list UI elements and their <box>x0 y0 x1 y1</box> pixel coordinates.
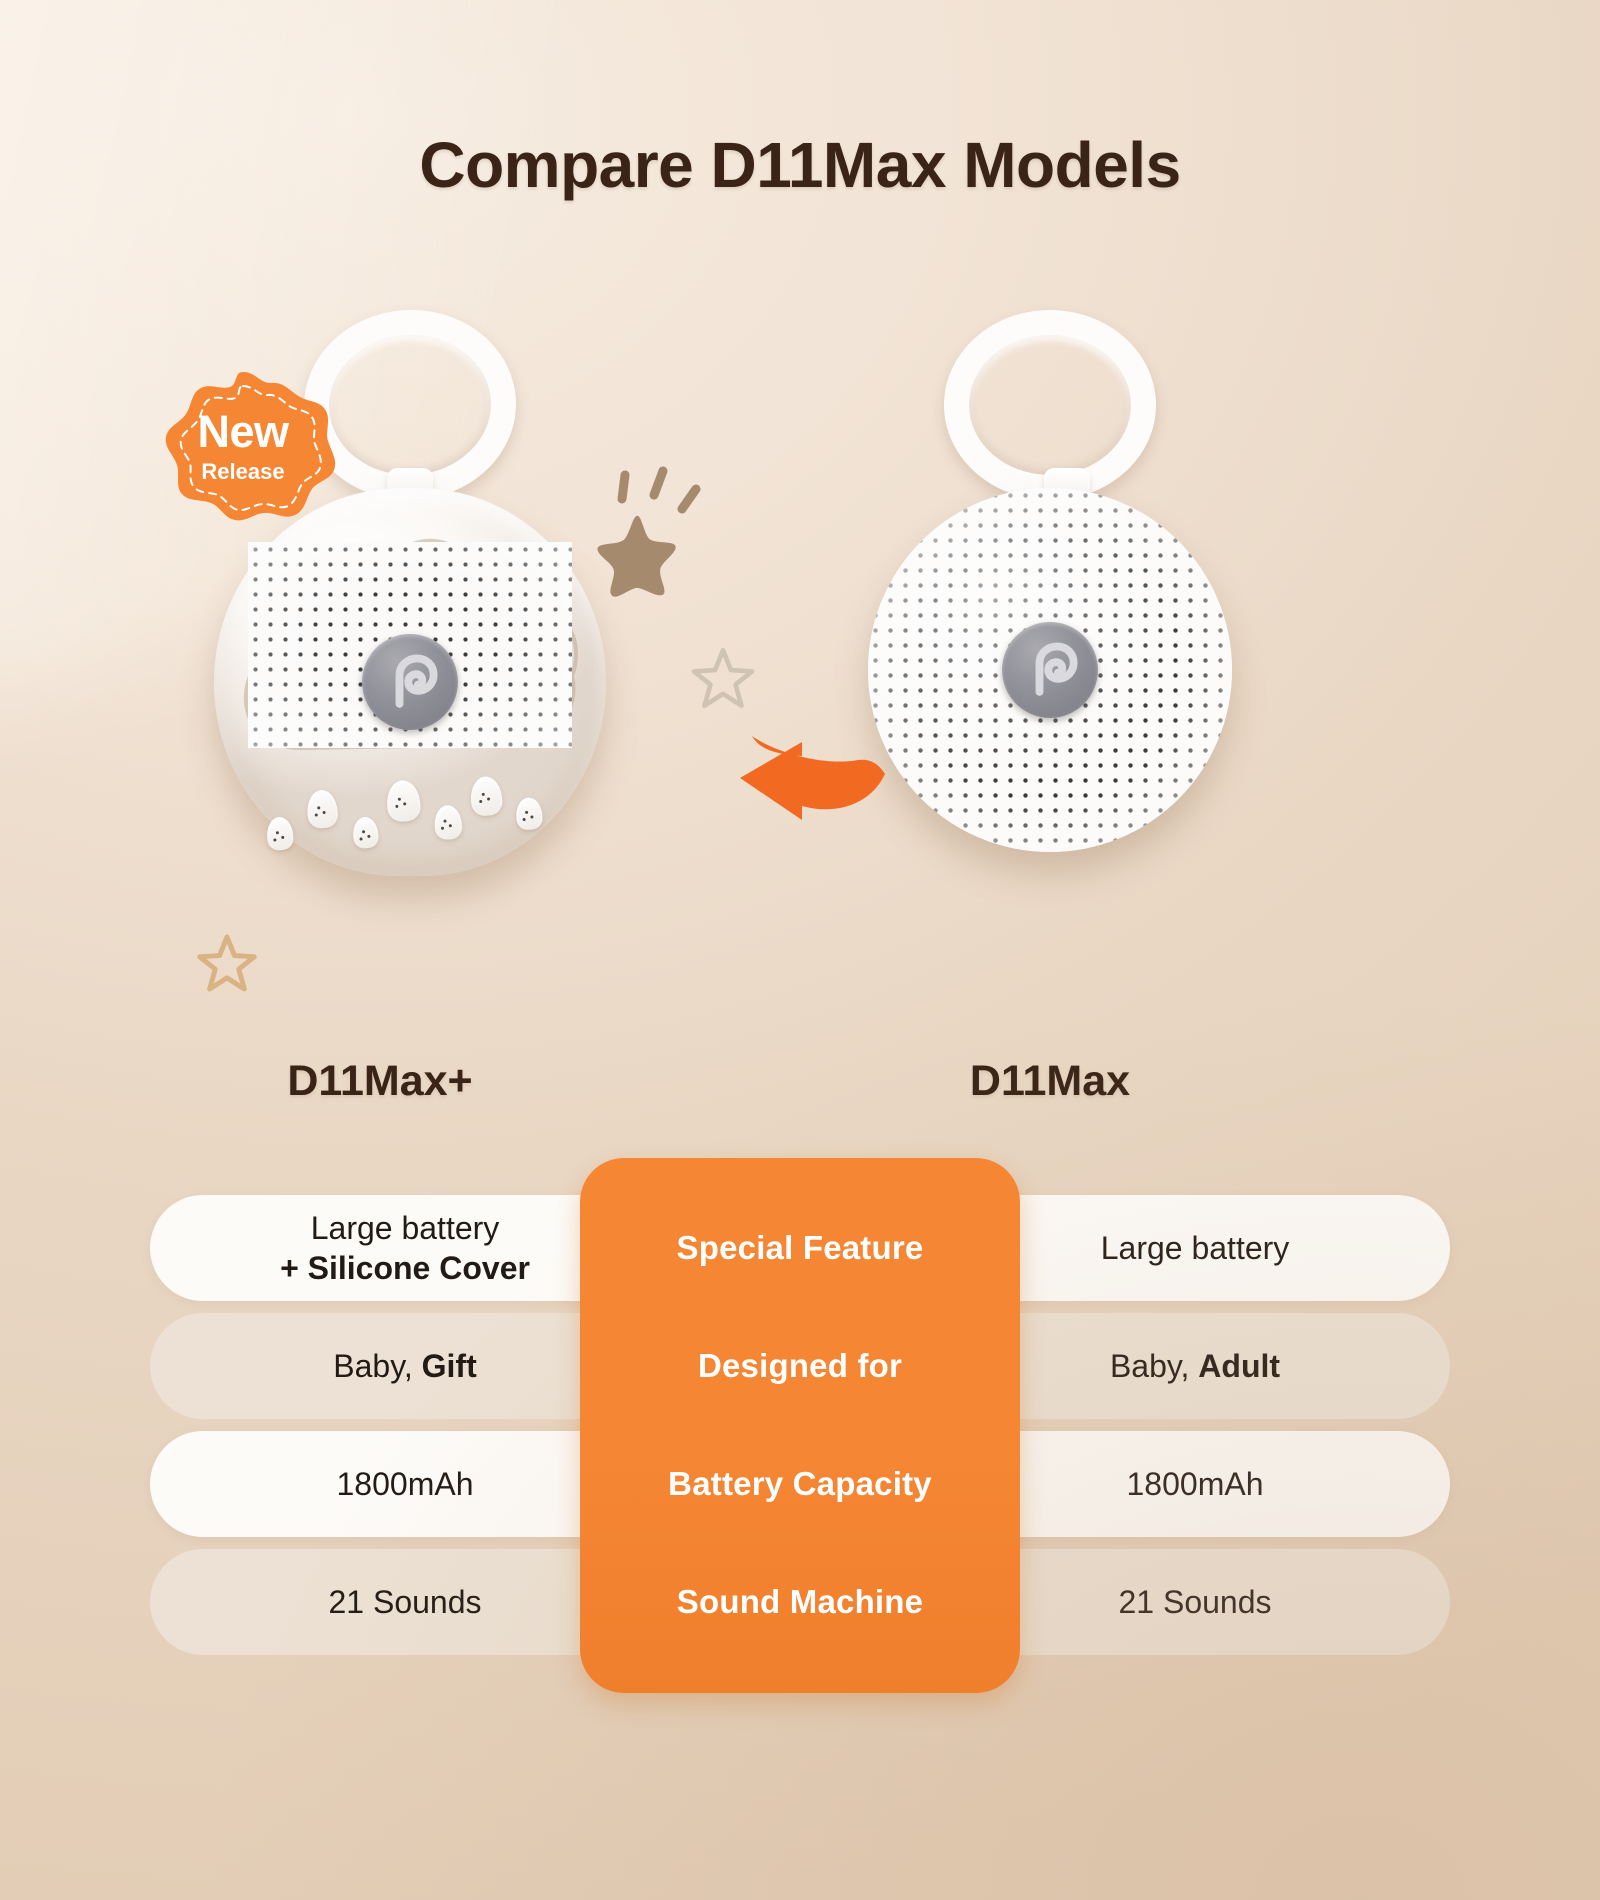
star-filled-icon <box>590 510 685 605</box>
feature-label-battery-capacity: Battery Capacity <box>580 1431 1020 1537</box>
dreamegg-swirl-icon[interactable] <box>1002 622 1098 718</box>
feature-label-sound-machine: Sound Machine <box>580 1549 1020 1655</box>
cell-line-1: Large battery <box>1101 1228 1290 1268</box>
raindrop-buttons[interactable] <box>258 768 562 863</box>
comparison-table: Large battery + Silicone Cover Large bat… <box>150 1195 1450 1655</box>
product-d11max <box>790 300 1310 960</box>
new-release-badge: New Release <box>148 370 338 522</box>
cell-line-1: 1800mAh <box>1127 1464 1264 1504</box>
cell-line-1: Baby, Adult <box>1110 1346 1280 1386</box>
infographic-stage: Compare D11Max Models <box>0 0 1600 1900</box>
cell-line-1: 21 Sounds <box>1118 1582 1271 1622</box>
page-title: Compare D11Max Models <box>0 128 1600 202</box>
star-outline-icon <box>690 645 756 711</box>
dreamegg-swirl-glyph <box>1022 642 1078 698</box>
cell-line-1: Baby, Gift <box>333 1346 476 1386</box>
product-label-d11maxplus: D11Max+ <box>120 1057 640 1106</box>
feature-label-designed-for: Designed for <box>580 1313 1020 1419</box>
feature-label-special-feature: Special Feature <box>580 1195 1020 1301</box>
feature-column: Special Feature Designed for Battery Cap… <box>580 1158 1020 1693</box>
cell-line-2: + Silicone Cover <box>280 1248 530 1288</box>
star-outline-icon <box>196 932 258 994</box>
product-label-d11max: D11Max <box>790 1057 1310 1106</box>
curved-arrow-left-icon <box>730 720 890 820</box>
starburst-shape-icon <box>148 370 338 522</box>
cell-line-1: 21 Sounds <box>328 1582 481 1622</box>
cell-line-1: Large battery <box>311 1208 500 1248</box>
dreamegg-swirl-glyph <box>382 654 438 710</box>
cell-line-1: 1800mAh <box>337 1464 474 1504</box>
dreamegg-swirl-icon[interactable] <box>362 634 458 730</box>
device-body-plus <box>214 488 606 876</box>
